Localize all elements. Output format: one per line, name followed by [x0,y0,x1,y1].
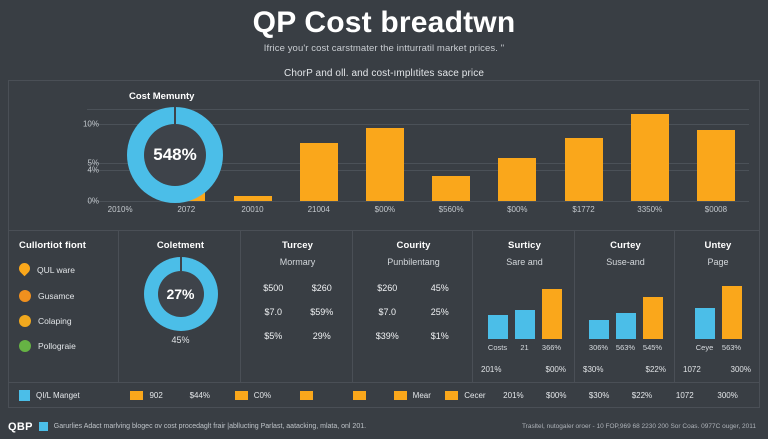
bar-slot[interactable] [418,109,484,201]
mini-bar-label: Costs [488,343,508,352]
list-item[interactable]: Colaping [19,315,110,327]
mini-bar-labels: 306%563%545% [585,343,666,352]
panel-footer-right: 300% [731,365,751,374]
bar-slot[interactable] [219,109,285,201]
page-subtitle: Ifrice you'r cost carstmater the intturr… [0,43,768,54]
value-cell: 29% [300,331,345,341]
chart-bar[interactable] [366,128,404,201]
legend-label: QI/L Manget [36,391,80,400]
mini-bar-label: 21 [515,343,535,352]
mini-bar[interactable] [695,308,715,339]
legend-entry[interactable]: $44% [173,391,226,400]
list-item-label: Pollograie [38,341,76,351]
value-grid: $500$260$7.0$59%$5%29% [251,283,344,341]
page-title: QP Cost breadtwn [0,6,768,40]
legend-number: 201% [492,391,535,400]
x-axis-tick-label: 20010 [219,205,285,214]
donut-value-label: 27% [166,286,194,302]
value-cell: $500 [251,283,296,293]
mini-bar[interactable] [589,320,609,339]
footer-text: Garurlies Adact marlving blogec ov cost … [54,423,366,430]
value-cell: $1% [416,331,465,341]
legend-swatch-icon [19,390,30,401]
bar-slot[interactable] [617,109,683,201]
donut-notch [174,107,176,124]
legend-number: $00% [535,391,578,400]
legend-label: Mear [413,391,431,400]
main-chart-card: Cost Memunty 10%5%4%0% 2010%207220010210… [8,80,760,230]
page-subtitle-secondary: ChorP and oll. and cost-ımplıtites sace … [0,68,768,79]
circle-icon [19,315,31,327]
panel-heading: Cullortiot fiont [19,240,110,251]
list-item-label: QUL ware [37,265,75,275]
overlay-donut-chart: 548% [127,107,223,203]
chart-x-axis: 2010%20722001021004$00%$560%$00%$1772335… [87,205,749,214]
chart-bar[interactable] [498,158,536,201]
mini-bar-label: 366% [542,343,562,352]
x-axis-tick-label: 2010% [87,205,153,214]
dashboard-page: QP Cost breadtwn Ifrice you'r cost carst… [0,0,768,439]
circle-icon [19,290,31,302]
x-axis-tick-label: $560% [418,205,484,214]
legend-label: $44% [190,391,210,400]
panel-heading: Curtey [585,240,666,251]
panel-courity: CourityPunbilentang$26045%$7.025%$39%$1% [353,231,473,382]
legend-number: $22% [621,391,664,400]
legend-number: 1072 [663,391,706,400]
mini-bar-label: Ceye [695,343,715,352]
bar-slot[interactable] [683,109,749,201]
panel-cullortiot-fiont: Cullortiot fiontQUL wareGusamceColapingP… [9,231,119,382]
mini-bar[interactable] [643,297,663,339]
legend-label: C0% [254,391,271,400]
mini-bar-label: 306% [589,343,609,352]
value-cell: $59% [300,307,345,317]
list-item[interactable]: Gusamce [19,290,110,302]
brand-label: QBP [8,421,33,433]
donut-caption: 45% [129,335,232,345]
list-item[interactable]: Pollograie [19,340,110,352]
list-item[interactable]: QUL ware [19,263,110,277]
x-axis-tick-label: $1772 [550,205,616,214]
list-item-label: Colaping [38,316,72,326]
panel-donut-chart: 27% [129,257,232,331]
mini-bar[interactable] [616,313,636,339]
panel-untey: UnteyPageCeye563%1072300% [675,231,759,382]
legend-label: 902 [149,391,162,400]
mini-bar[interactable] [515,310,535,339]
donut-notch [180,257,182,271]
panel-surticy: SurticySare andCosts21366%201%$00% [473,231,575,382]
panel-heading: Untey [685,240,751,251]
chart-bar[interactable] [697,130,735,201]
mini-bar-label: 545% [643,343,663,352]
legend-swatch-icon [394,391,407,400]
panel-footer-right: $00% [546,365,566,374]
chart-bar[interactable] [234,196,272,201]
value-cell: $260 [363,283,412,293]
footer-right-text: Trasltel, nutogaler oroer - 10 FOP,969 6… [522,423,760,430]
value-cell: $39% [363,331,412,341]
chart-bar[interactable] [432,176,470,201]
panel-footer-values: 1072300% [683,365,751,374]
chart-title: Cost Memunty [129,91,194,102]
donut-center: 27% [158,271,204,317]
mini-bar-labels: Costs21366% [483,343,566,352]
panel-footer-values: $30%$22% [583,365,666,374]
mini-bar-label: 563% [616,343,636,352]
x-axis-tick-label: 3350% [617,205,683,214]
legend-number: 300% [706,391,749,400]
value-cell: 25% [416,307,465,317]
legend-entry[interactable]: C0% [226,391,279,400]
panel-footer-left: $30% [583,365,603,374]
panel-heading: Turcey [251,240,344,251]
donut-center: 548% [144,124,206,186]
legend-primary-entry[interactable]: QI/L Manget [19,390,120,401]
panel-curtey: CurteySuse-and306%563%545%$30%$22% [575,231,675,382]
legend-bar: QI/L Manget902$44%C0%MearCecer201%$00%$3… [8,382,760,408]
legend-entry[interactable] [279,391,332,400]
panel-row: Cullortiot fiontQUL wareGusamceColapingP… [8,230,760,382]
mini-bar-label: 563% [722,343,742,352]
mini-bar-chart [483,277,566,339]
panel-subheading: Sare and [483,257,566,267]
panel-list: QUL wareGusamceColapingPollograie [19,263,110,352]
brand-swatch-icon [39,422,48,431]
value-grid: $26045%$7.025%$39%$1% [363,283,464,341]
legend-entry[interactable]: 902 [120,391,173,400]
legend-entry[interactable] [333,391,386,400]
mini-bar-chart [585,277,666,339]
panel-heading: Coletment [129,240,232,251]
mini-bar-labels: Ceye563% [685,343,751,352]
mini-bar[interactable] [542,289,562,339]
panel-subheading: Suse-and [585,257,666,267]
bar-slot[interactable] [550,109,616,201]
bar-slot[interactable] [484,109,550,201]
bar-slot[interactable] [352,109,418,201]
mini-bar[interactable] [722,286,742,339]
value-cell: $7.0 [363,307,412,317]
panel-footer-right: $22% [646,365,666,374]
bar-slot[interactable] [286,109,352,201]
donut-ring: 548% [127,107,223,203]
panel-coletment: Coletment27%45% [119,231,241,382]
legend-swatch-icon [130,391,143,400]
pin-icon [19,263,30,277]
x-axis-tick-label: $00% [484,205,550,214]
panel-footer-values: 201%$00% [481,365,566,374]
x-axis-tick-label: 21004 [286,205,352,214]
value-cell: $260 [300,283,345,293]
chart-bar[interactable] [300,143,338,201]
value-cell: 45% [416,283,465,293]
x-axis-tick-label: $0008 [683,205,749,214]
donut-value-label: 548% [153,145,196,165]
donut-ring: 27% [144,257,218,331]
panel-footer-left: 1072 [683,365,701,374]
legend-swatch-icon [300,391,313,400]
panel-turcey: TurceyMormary$500$260$7.0$59%$5%29% [241,231,353,382]
x-axis-tick-label: 2072 [153,205,219,214]
circle-icon [19,340,31,352]
value-cell: $5% [251,331,296,341]
legend-swatch-icon [235,391,248,400]
legend-label: Cecer [464,391,485,400]
legend-swatch-icon [445,391,458,400]
panel-subheading: Mormary [251,257,344,267]
value-cell: $7.0 [251,307,296,317]
mini-bar-chart [685,277,751,339]
page-footer: QBP Garurlies Adact marlving blogec ov c… [0,414,768,439]
legend-entry[interactable]: Mear [386,391,439,400]
panel-footer-left: 201% [481,365,501,374]
list-item-label: Gusamce [38,291,74,301]
panel-subheading: Punbilentang [363,257,464,267]
x-axis-tick-label: $00% [352,205,418,214]
chart-bar[interactable] [631,114,669,201]
chart-bar[interactable] [565,138,603,201]
legend-number: $30% [578,391,621,400]
legend-swatch-icon [353,391,366,400]
page-header: QP Cost breadtwn Ifrice you'r cost carst… [0,0,768,79]
legend-entry[interactable]: Cecer [439,391,492,400]
panel-subheading: Page [685,257,751,267]
panel-heading: Courity [363,240,464,251]
mini-bar[interactable] [488,315,508,339]
panel-heading: Surticy [483,240,566,251]
